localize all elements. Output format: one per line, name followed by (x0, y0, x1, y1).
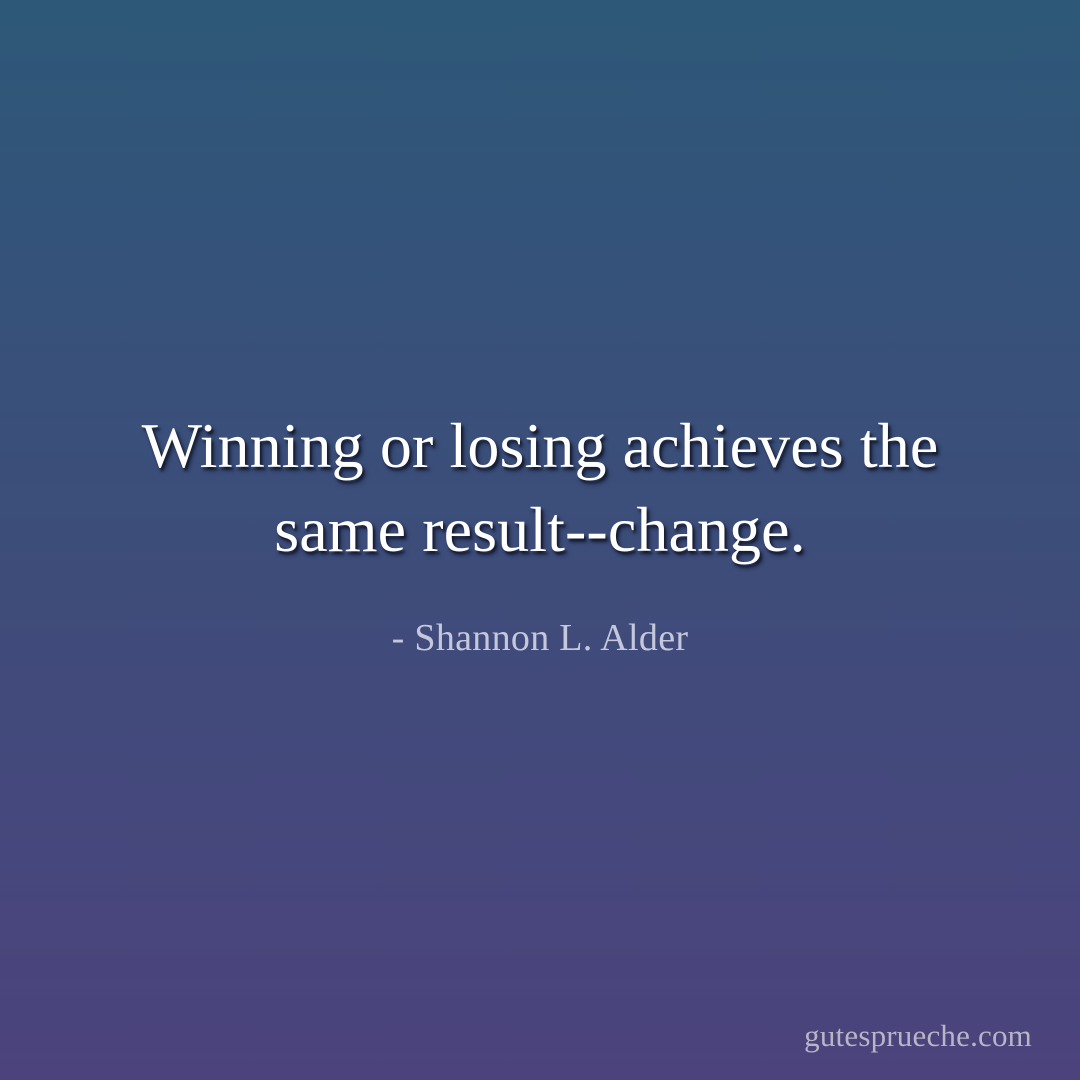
quote-card: Winning or losing achieves the same resu… (0, 0, 1080, 1080)
quote-text: Winning or losing achieves the same resu… (90, 404, 990, 572)
watermark-url: gutesprueche.com (804, 1017, 1032, 1054)
quote-block: Winning or losing achieves the same resu… (0, 404, 1080, 661)
quote-author: - Shannon L. Alder (392, 572, 689, 662)
